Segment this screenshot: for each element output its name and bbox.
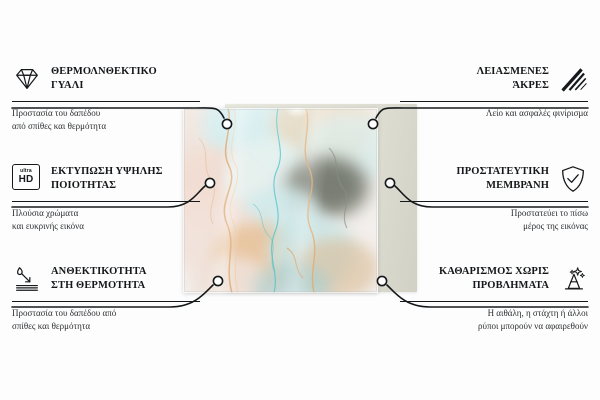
marble-artwork bbox=[183, 108, 378, 293]
easy-cleaning-icon bbox=[558, 264, 588, 294]
diamond-icon bbox=[12, 64, 42, 94]
feature-title: ΠΡΟΣΤΑΤΕΥΤΙΚΗ ΜΕΜΒΡΑΝΗ bbox=[457, 165, 549, 193]
feature-heat-resistant-glass: ΘΕΡΜΟΛΝΘΕΚΤΙΚΟ ΓΥΑΛΙ Προστασία του δαπέδ… bbox=[12, 62, 200, 133]
divider bbox=[12, 301, 200, 302]
feature-description: Προστασία του δαπέδου από σπίθες και θερ… bbox=[12, 107, 200, 133]
feature-description: Η αιθάλη, η στάχτη ή άλλοι ρύποι μπορούν… bbox=[400, 307, 588, 333]
divider bbox=[12, 101, 200, 102]
feature-header: ΚΑΘΑΡΙΣΜΟΣ ΧΩΡΙΣ ΠΡΟΒΛΗΜΑΤΑ bbox=[400, 262, 588, 296]
heat-resistance-icon bbox=[12, 264, 42, 294]
feature-description: Πλούσια χρώματα και ευκρινής εικόνα bbox=[12, 207, 200, 233]
feature-header: ΠΡΟΣΤΑΤΕΥΤΙΚΗ ΜΕΜΒΡΑΝΗ bbox=[400, 162, 588, 196]
feature-title: ΑΝΘΕΚΤΙΚΟΤΗΤΑ ΣΤΗ ΘΕΡΜΟΤΗΤΑ bbox=[51, 265, 147, 293]
feature-header: ΘΕΡΜΟΛΝΘΕΚΤΙΚΟ ΓΥΑΛΙ bbox=[12, 62, 200, 96]
feature-title: ΛΕΙΑΣΜΕΝΕΣ ΆΚΡΕΣ bbox=[477, 65, 549, 93]
feature-description: Προστασία του δαπέδου από σπίθες και θερ… bbox=[12, 307, 200, 333]
feature-polished-edges: ΛΕΙΑΣΜΕΝΕΣ ΆΚΡΕΣ Λείο και ασφαλές φινίρι… bbox=[400, 62, 588, 120]
polished-edges-icon bbox=[558, 64, 588, 94]
feature-header: ΛΕΙΑΣΜΕΝΕΣ ΆΚΡΕΣ bbox=[400, 62, 588, 96]
feature-title: ΕΚΤΥΠΩΣΗ ΥΨΗΛΗΣ ΠΟΙΟΤΗΤΑΣ bbox=[51, 165, 163, 193]
feature-title: ΘΕΡΜΟΛΝΘΕΚΤΙΚΟ ΓΥΑΛΙ bbox=[51, 65, 157, 93]
divider bbox=[400, 201, 588, 202]
divider bbox=[12, 201, 200, 202]
feature-header: ΑΝΘΕΚΤΙΚΟΤΗΤΑ ΣΤΗ ΘΕΡΜΟΤΗΤΑ bbox=[12, 262, 200, 296]
divider bbox=[400, 101, 588, 102]
ultra-hd-icon: ultra HD bbox=[12, 164, 42, 194]
feature-easy-cleaning: ΚΑΘΑΡΙΣΜΟΣ ΧΩΡΙΣ ΠΡΟΒΛΗΜΑΤΑ Η αιθάλη, η … bbox=[400, 262, 588, 333]
infographic-canvas: ΘΕΡΜΟΛΝΘΕΚΤΙΚΟ ΓΥΑΛΙ Προστασία του δαπέδ… bbox=[0, 0, 600, 400]
ultra-hd-badge: ultra HD bbox=[12, 164, 40, 190]
glass-panel bbox=[183, 108, 378, 293]
divider bbox=[400, 301, 588, 302]
feature-description: Προστατεύει το πίσω μέρος της εικόνας bbox=[400, 207, 588, 233]
feature-title: ΚΑΘΑΡΙΣΜΟΣ ΧΩΡΙΣ ΠΡΟΒΛΗΜΑΤΑ bbox=[439, 265, 549, 293]
feature-heat-durability: ΑΝΘΕΚΤΙΚΟΤΗΤΑ ΣΤΗ ΘΕΡΜΟΤΗΤΑ Προστασία το… bbox=[12, 262, 200, 333]
feature-high-quality-print: ultra HD ΕΚΤΥΠΩΣΗ ΥΨΗΛΗΣ ΠΟΙΟΤΗΤΑΣ Πλούσ… bbox=[12, 162, 200, 233]
shield-check-icon bbox=[558, 164, 588, 194]
feature-header: ultra HD ΕΚΤΥΠΩΣΗ ΥΨΗΛΗΣ ΠΟΙΟΤΗΤΑΣ bbox=[12, 162, 200, 196]
feature-protective-membrane: ΠΡΟΣΤΑΤΕΥΤΙΚΗ ΜΕΜΒΡΑΝΗ Προστατεύει το πί… bbox=[400, 162, 588, 233]
product-image bbox=[183, 108, 378, 293]
feature-description: Λείο και ασφαλές φινίρισμα bbox=[400, 107, 588, 120]
